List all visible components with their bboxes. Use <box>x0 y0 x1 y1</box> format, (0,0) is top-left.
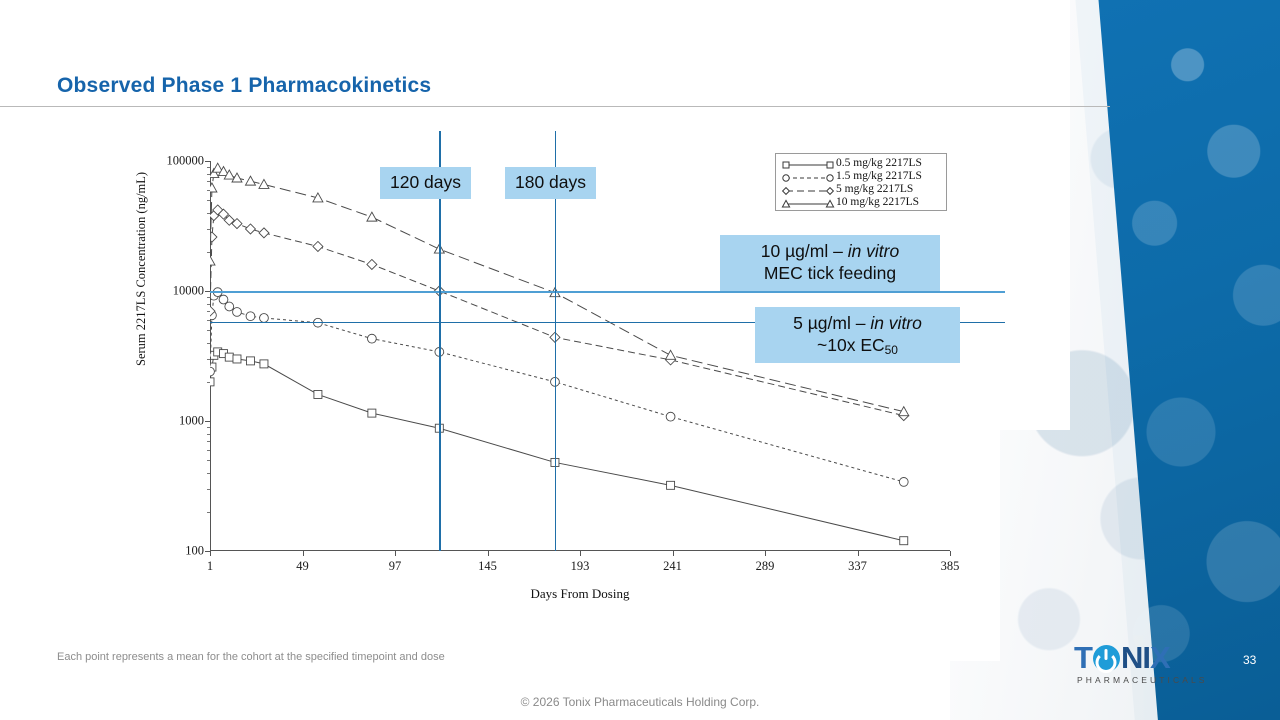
callout-180-days: 180 days <box>505 167 596 199</box>
callout-mec-emphasis: in vitro <box>848 241 900 261</box>
x-tick-mark <box>580 551 581 556</box>
callout-ec50-emphasis: in vitro <box>870 313 922 333</box>
x-tick-label: 241 <box>663 559 682 574</box>
y-tick-minor <box>207 489 210 490</box>
reference-line-horizontal <box>210 291 1005 293</box>
y-tick-mark <box>205 161 210 162</box>
x-tick-label: 193 <box>571 559 590 574</box>
y-tick-minor <box>207 190 210 191</box>
chart-legend: 0.5 mg/kg 2217LS 1.5 mg/kg 2217LS 5 mg/k… <box>775 153 947 211</box>
callout-mec-line2: MEC tick feeding <box>732 263 928 285</box>
power-symbol-icon <box>1093 645 1120 672</box>
legend-label: 1.5 mg/kg 2217LS <box>836 170 922 183</box>
y-tick-minor <box>207 311 210 312</box>
callout-mec-line1: 10 µg/ml – in vitro <box>732 241 928 263</box>
plot-area: 1001000100001000001499714519324128933738… <box>210 161 950 581</box>
x-tick-mark <box>950 551 951 556</box>
copyright-text: © 2026 Tonix Pharmaceuticals Holding Cor… <box>0 695 1280 709</box>
logo-letter-n: N <box>1121 643 1142 673</box>
y-tick-label: 10000 <box>173 284 204 299</box>
y-tick-minor <box>207 460 210 461</box>
legend-label: 0.5 mg/kg 2217LS <box>836 157 922 170</box>
pk-chart-panel: 1001000100001000001499714519324128933738… <box>120 131 1000 661</box>
y-tick-label: 100000 <box>167 154 205 169</box>
y-tick-minor <box>207 320 210 321</box>
legend-item: 10 mg/kg 2217LS <box>780 196 942 209</box>
legend-item: 5 mg/kg 2217LS <box>780 183 942 196</box>
y-tick-minor <box>207 174 210 175</box>
x-tick-label: 145 <box>478 559 497 574</box>
y-tick-minor <box>207 512 210 513</box>
legend-item: 1.5 mg/kg 2217LS <box>780 170 942 183</box>
y-tick-minor <box>207 450 210 451</box>
y-tick-minor <box>207 200 210 201</box>
y-tick-minor <box>207 229 210 230</box>
y-tick-minor <box>207 330 210 331</box>
callout-120-days: 120 days <box>380 167 471 199</box>
y-tick-minor <box>207 427 210 428</box>
x-tick-label: 337 <box>848 559 867 574</box>
logo-wordmark: T N I X <box>1074 643 1208 673</box>
y-tick-minor <box>207 304 210 305</box>
y-tick-minor <box>207 252 210 253</box>
callout-ec50-line1: 5 µg/ml – in vitro <box>767 313 948 335</box>
page-number: 33 <box>1243 653 1256 667</box>
y-tick-label: 1000 <box>179 414 204 429</box>
x-tick-label: 289 <box>756 559 775 574</box>
x-axis-title: Days From Dosing <box>210 586 950 602</box>
logo-letter-x: X <box>1150 643 1170 673</box>
callout-mec: 10 µg/ml – in vitro MEC tick feeding <box>720 235 940 291</box>
tonix-logo: T N I X PHARMACEUTICALS <box>1074 643 1208 685</box>
y-tick-minor <box>207 382 210 383</box>
logo-letter-t: T <box>1074 643 1092 673</box>
callout-ec50-line2: ~10x EC50 <box>767 335 948 357</box>
y-tick-label: 100 <box>185 544 204 559</box>
y-tick-minor <box>207 434 210 435</box>
y-tick-minor <box>207 441 210 442</box>
y-tick-minor <box>207 167 210 168</box>
x-tick-mark <box>488 551 489 556</box>
x-tick-mark <box>765 551 766 556</box>
x-tick-mark <box>395 551 396 556</box>
y-tick-minor <box>207 213 210 214</box>
legend-label: 5 mg/kg 2217LS <box>836 183 913 196</box>
legend-key-diamond <box>780 184 836 196</box>
title-divider <box>0 106 1110 107</box>
y-tick-minor <box>207 359 210 360</box>
y-tick-minor <box>207 473 210 474</box>
y-tick-mark <box>205 421 210 422</box>
callout-ec50: 5 µg/ml – in vitro ~10x EC50 <box>755 307 960 363</box>
series-square <box>210 348 908 545</box>
logo-tagline: PHARMACEUTICALS <box>1077 675 1208 685</box>
x-tick-mark <box>210 551 211 556</box>
legend-key-square <box>780 158 836 170</box>
legend-label: 10 mg/kg 2217LS <box>836 196 919 209</box>
x-tick-label: 385 <box>941 559 960 574</box>
y-tick-minor <box>207 181 210 182</box>
page-title: Observed Phase 1 Pharmacokinetics <box>57 74 431 98</box>
legend-item: 0.5 mg/kg 2217LS <box>780 157 942 170</box>
y-tick-minor <box>207 297 210 298</box>
chart-footnote: Each point represents a mean for the coh… <box>57 651 445 663</box>
logo-letter-i: I <box>1142 643 1150 673</box>
x-tick-mark <box>303 551 304 556</box>
y-axis-title: Serum 2217LS Concentration (ng/mL) <box>134 172 149 366</box>
x-tick-mark <box>858 551 859 556</box>
x-tick-label: 1 <box>207 559 213 574</box>
y-tick-minor <box>207 343 210 344</box>
legend-key-triangle <box>780 197 836 209</box>
x-tick-label: 97 <box>389 559 402 574</box>
x-tick-label: 49 <box>296 559 309 574</box>
x-tick-mark <box>673 551 674 556</box>
legend-key-circle <box>780 171 836 183</box>
ec50-subscript: 50 <box>885 343 898 357</box>
